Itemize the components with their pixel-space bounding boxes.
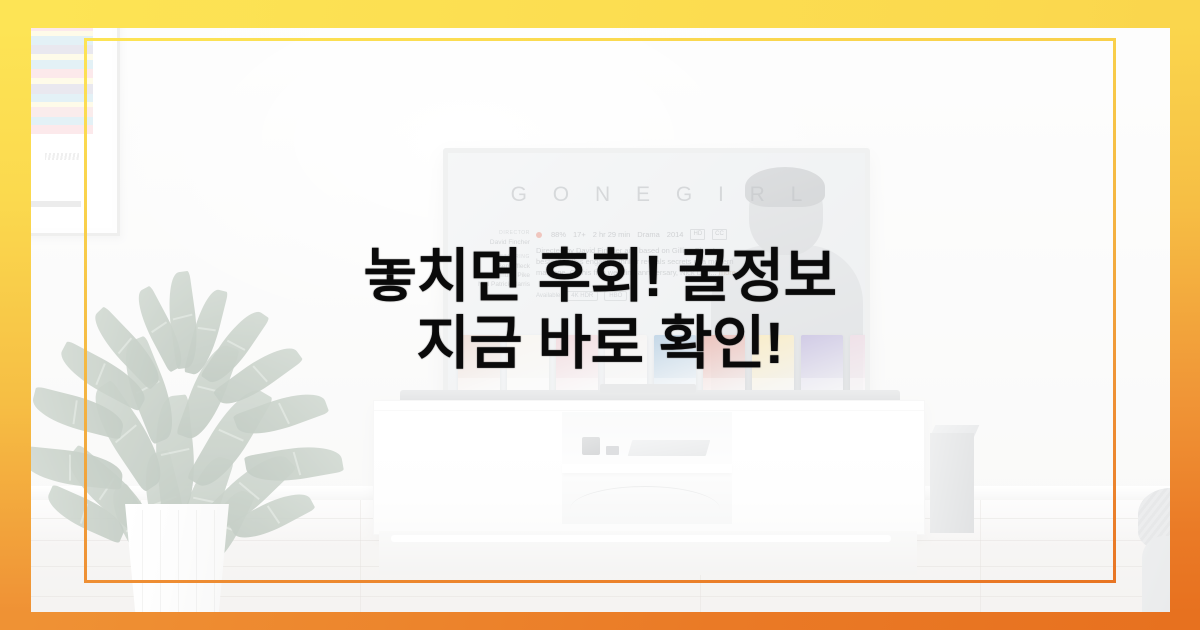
shelf-divider [562,464,732,473]
tv-screen: G O N E G I R L DIRECTOR David Fincher S… [448,153,865,401]
starring-3: Neil Patrick Harris [472,280,530,289]
art-stripe-12 [31,84,93,94]
poster-2[interactable] [507,335,549,397]
poster-8[interactable] [801,335,843,397]
art-stripe-9 [31,60,93,69]
art-stripe-13 [31,94,93,102]
poster-6[interactable] [703,335,745,397]
genre: Drama [637,230,660,239]
art-stripe-3 [31,14,93,23]
more-link[interactable]: more [719,268,736,277]
director-name: David Fincher [472,238,530,247]
movie-credits: DIRECTOR David Fincher STARRING Ben Affl… [472,223,530,289]
cable [570,486,720,509]
background-photo: G O N E G I R L DIRECTOR David Fincher S… [0,0,1200,630]
television: G O N E G I R L DIRECTOR David Fincher S… [443,148,870,406]
quality-chip: 4K HDR [566,291,598,301]
movie-synopsis: Directed by David Fincher and based on G… [536,245,752,278]
art-stripe-10 [31,69,93,78]
available-label: Available [536,293,560,299]
starring-label: STARRING [472,253,530,262]
movie-meta-row: 88% 17+ 2 hr 29 min Drama 2014 HD CC [536,229,727,240]
tv-stand-top [374,401,924,411]
tv-stand-plinth [379,531,917,575]
tv-stand-foot [600,384,696,393]
duration: 2 hr 29 min [593,230,631,239]
art-stripe-15 [31,107,93,117]
house-plant [52,276,332,630]
starring-2: Rosamund Pike [472,271,530,280]
plant-pot [118,504,236,630]
age-rating: 17+ [573,230,586,239]
floor-speaker [930,433,974,533]
hd-badge: HD [690,229,705,240]
art-stripe-4 [31,23,93,31]
thumbnail-canvas: G O N E G I R L DIRECTOR David Fincher S… [0,0,1200,630]
tv-stand-open-shelf [562,412,732,524]
score-dot-icon [536,232,542,238]
year: 2014 [667,230,684,239]
tv-stand [373,400,925,535]
remote-control [606,446,619,455]
art-stripe-16 [31,117,93,125]
artist-signature [45,153,79,160]
provider-chip: HBO [604,291,627,301]
art-stripe-17 [31,125,93,134]
set-top-box [582,437,600,455]
wall-art-frame [18,0,120,236]
art-stripe-6 [31,36,93,45]
art-stripe-1 [31,0,93,8]
plinth-lip [391,535,891,542]
director-label: DIRECTOR [472,229,530,238]
synopsis-text: Directed by David Fincher and based on G… [536,246,734,277]
cc-badge: CC [712,229,727,240]
art-caption [27,201,81,207]
chair [1142,536,1200,614]
laptop-device [628,440,711,456]
starring-1: Ben Affleck [472,262,530,271]
poster-3[interactable] [556,335,598,397]
art-stripe-7 [31,45,93,54]
poster-9[interactable] [850,335,865,397]
availability-row: Available 4K HDR HBO [536,291,627,301]
poster-7[interactable] [752,335,794,397]
poster-1[interactable] [458,335,500,397]
art-stripes [31,0,93,147]
score-value: 88% [551,230,566,239]
movie-title: G O N E G I R L [448,183,865,207]
